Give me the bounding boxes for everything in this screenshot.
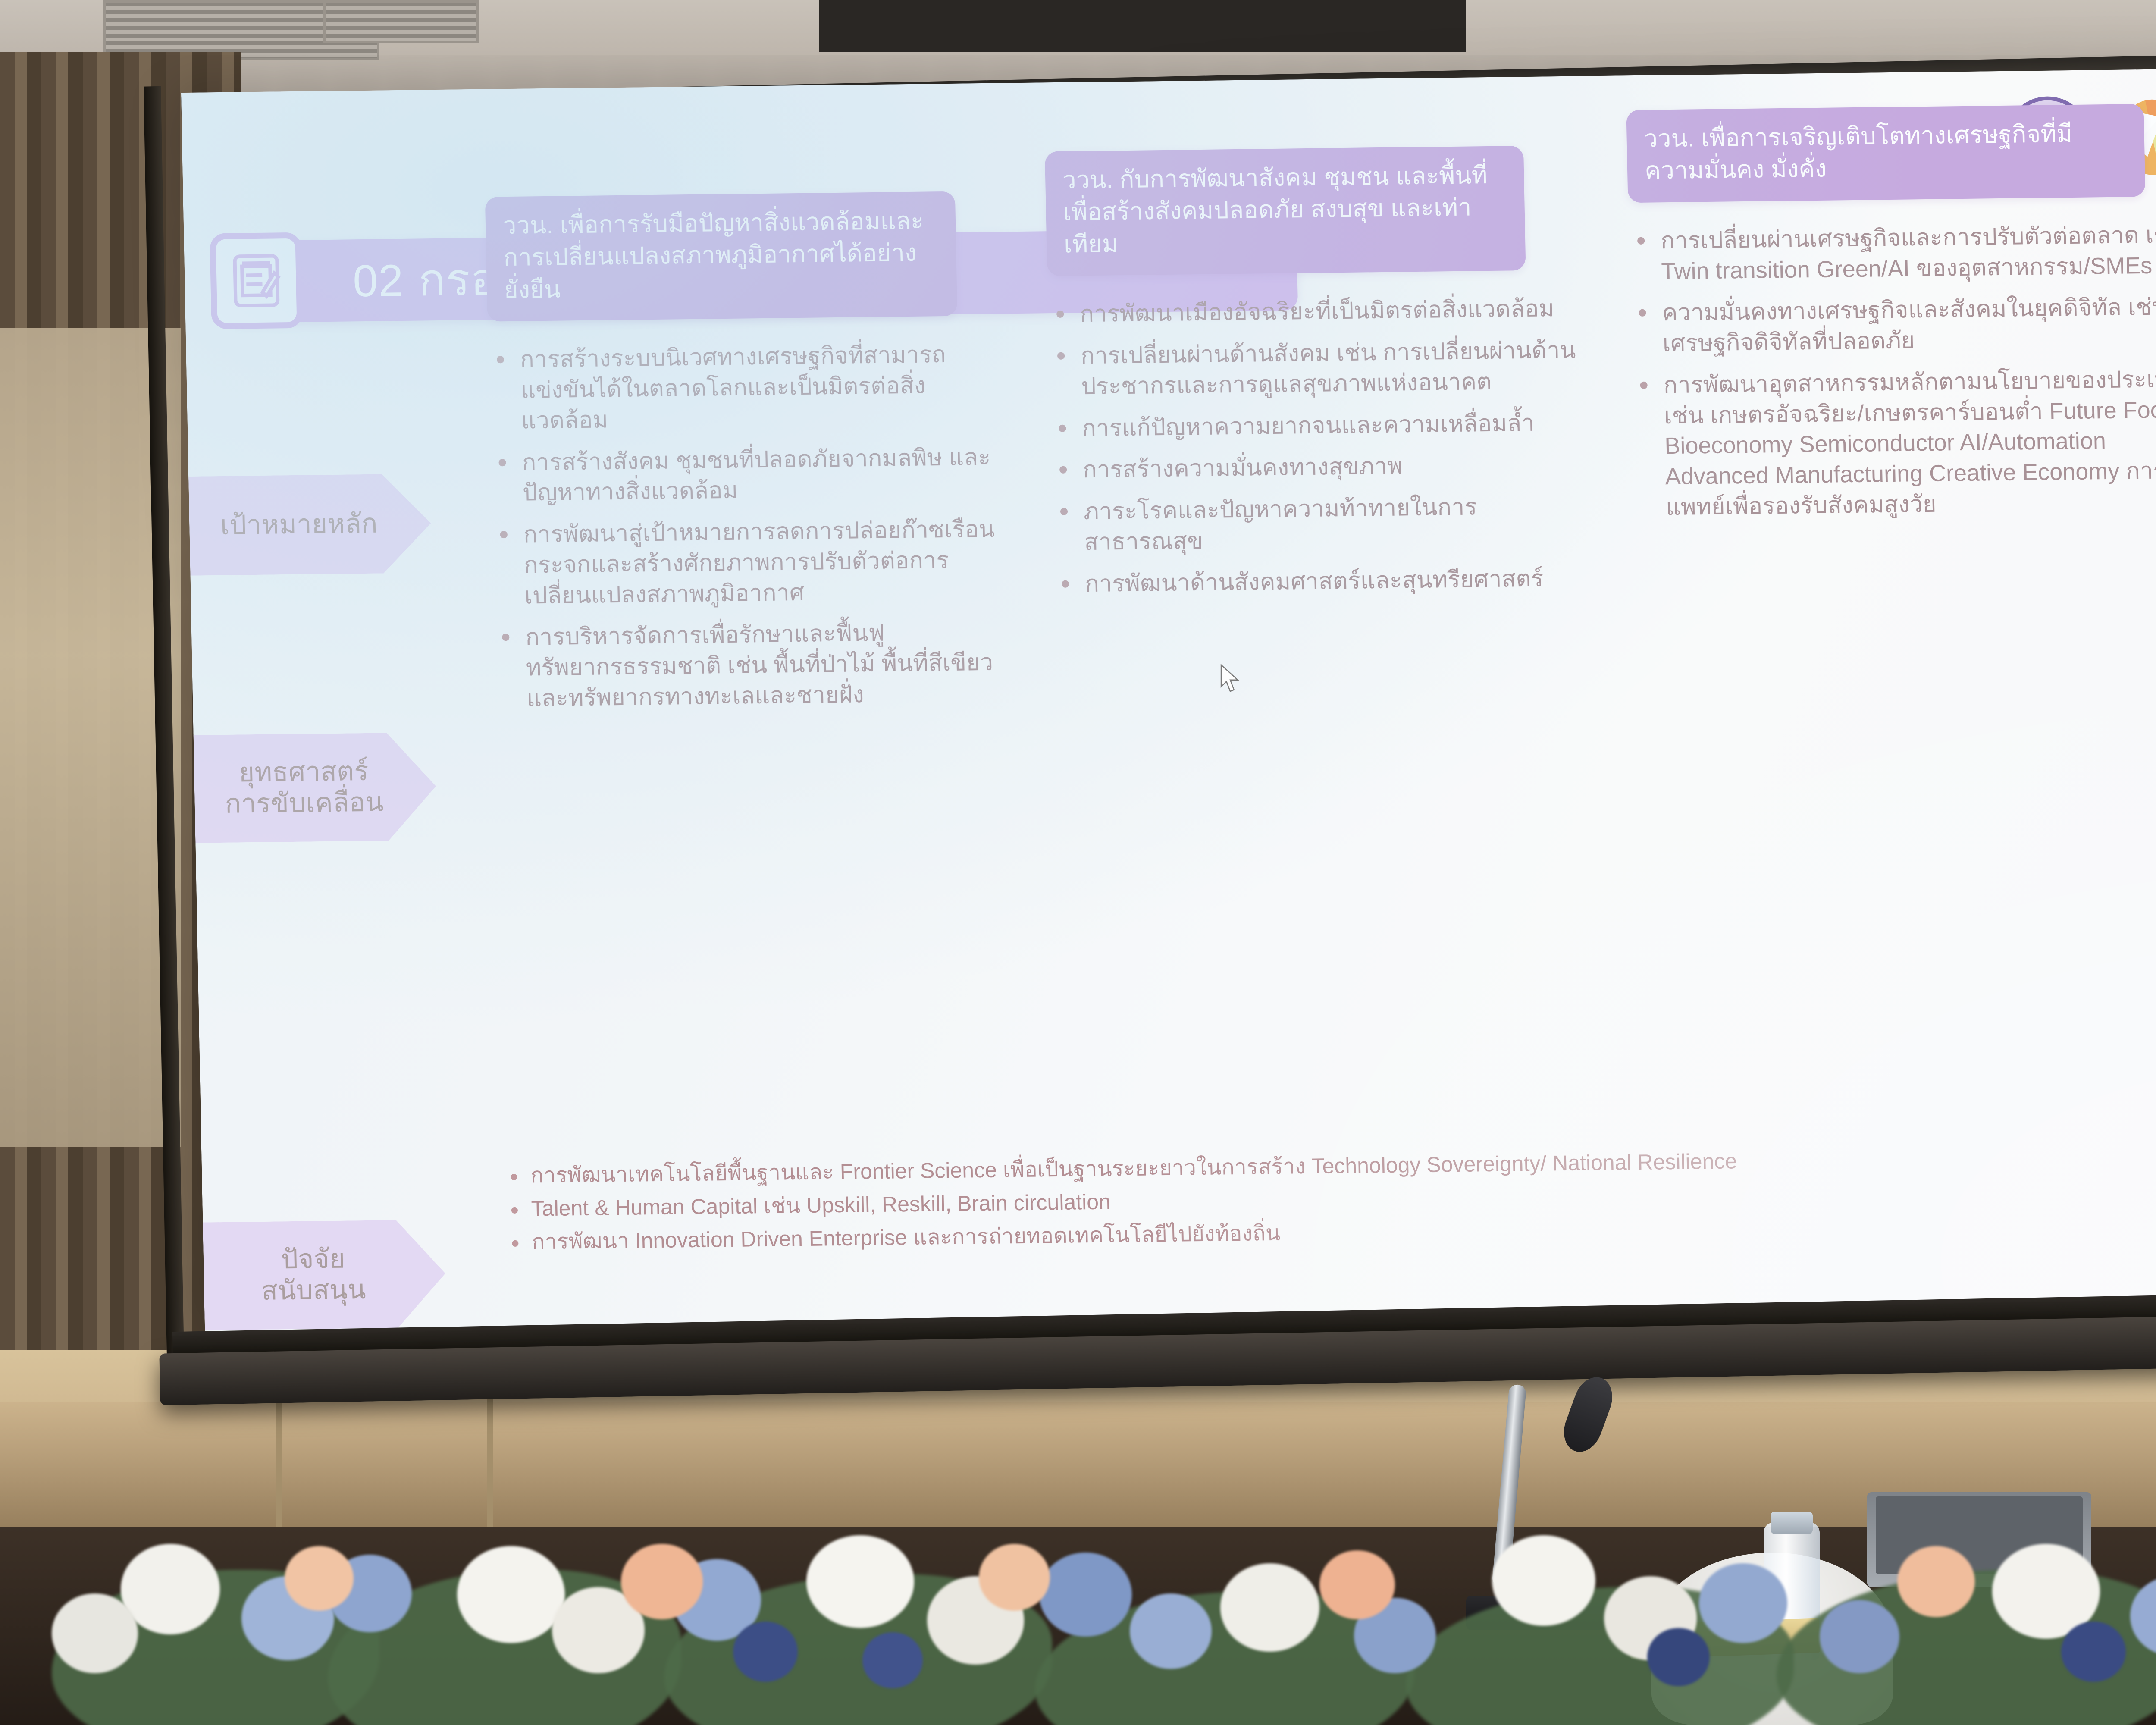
laptop-screen: [1876, 1496, 2083, 1574]
support-factor-list: การพัฒนาเทคโนโลยีพื้นฐานและ Frontier Sci…: [504, 1140, 2156, 1255]
ceiling-air-vent-secondary: [323, 0, 479, 43]
ceiling-dark-recess: [819, 0, 1466, 52]
row-label-support-factors: ปัจจัย สนับสนุน: [203, 1220, 446, 1330]
list-item: การแก้ปัญหาความยากจนและความเหลื่อมล้ำ: [1050, 407, 1589, 444]
row-label-text: ปัจจัย สนับสนุน: [260, 1243, 366, 1307]
list-item: การบริหารจัดการเพื่อรักษาและฟื้นฟูทรัพยา…: [493, 617, 1008, 714]
column-heading: ววน. เพื่อการเจริญเติบโตทางเศรษฐกิจที่มี…: [1626, 104, 2145, 203]
column-heading: ววน. เพื่อการรับมือปัญหาสิ่งแวดล้อมและกา…: [485, 191, 958, 322]
list-item: การพัฒนาสู่เป้าหมายการลดการปล่อยก๊าซเรือ…: [491, 514, 1006, 611]
row-label-main-goals: เป้าหมายหลัก: [188, 474, 432, 576]
column-bullet-list: การพัฒนาเมืองอัจฉริยะที่เป็นมิตรต่อสิ่งแ…: [1048, 293, 1592, 600]
row-label-text: เป้าหมายหลัก: [220, 508, 378, 541]
list-item: การเปลี่ยนผ่านด้านสังคม เช่น การเปลี่ยนผ…: [1048, 335, 1589, 402]
list-item: การสร้างสังคม ชุมชนที่ปลอดภัยจากมลพิษ แล…: [490, 442, 1004, 509]
column-economy: ววน. เพื่อการเจริญเติบโตทางเศรษฐกิจที่มี…: [1626, 103, 2156, 534]
support-factors-section: การพัฒนาเทคโนโลยีพื้นฐานและ Frontier Sci…: [504, 1140, 2156, 1262]
list-item: ความมั่นคงทางเศรษฐกิจและสังคมในยุคดิจิทั…: [1630, 292, 2156, 359]
list-item: การพัฒนาด้านสังคมศาสตร์และสุนทรียศาสตร์: [1053, 563, 1592, 600]
name-card: [1630, 1618, 1821, 1659]
slide-number: 02: [352, 255, 404, 306]
mouse-cursor-icon: [1219, 664, 1242, 694]
column-bullet-list: การสร้างระบบนิเวศทางเศรษฐกิจที่สามารถแข่…: [488, 339, 1008, 714]
clipboard-pencil-icon-frame: [210, 232, 303, 329]
column-bullet-list: การเปลี่ยนผ่านเศรษฐกิจและการปรับตัวต่อตล…: [1629, 219, 2156, 523]
water-bottle-cap: [1771, 1512, 1813, 1534]
list-item: การพัฒนาอุตสาหกรรมหลักตามนโยบายของประเทศ…: [1631, 364, 2156, 523]
column-environment: ววน. เพื่อการรับมือปัญหาสิ่งแวดล้อมและกา…: [485, 191, 1008, 725]
projection-screen: สอวช สำนักงานสภานโยบายการอุดมศึกษา วิทยา…: [181, 66, 2156, 1335]
clipboard-pencil-icon: [216, 238, 297, 323]
row-label-strategies: ยุทธศาสตร์ การขับเคลื่อน: [194, 732, 437, 843]
column-heading: ววน. กับการพัฒนาสังคม ชุมชน และพื้นที่ เ…: [1045, 146, 1526, 276]
list-item: การสร้างความมั่นคงทางสุขภาพ: [1051, 449, 1590, 486]
list-item: การสร้างระบบนิเวศทางเศรษฐกิจที่สามารถแข่…: [488, 339, 1003, 436]
presentation-slide: สอวช สำนักงานสภานโยบายการอุดมศึกษา วิทยา…: [181, 66, 2156, 1335]
list-item: การพัฒนาเมืองอัจฉริยะที่เป็นมิตรต่อสิ่งแ…: [1048, 293, 1587, 330]
column-society: ววน. กับการพัฒนาสังคม ชุมชน และพื้นที่ เ…: [1045, 145, 1592, 611]
row-label-text: ยุทธศาสตร์ การขับเคลื่อน: [224, 756, 384, 820]
list-item: ภาระโรคและปัญหาความท้าทายในการสาธารณสุข: [1051, 490, 1592, 558]
list-item: การเปลี่ยนผ่านเศรษฐกิจและการปรับตัวต่อตล…: [1629, 219, 2156, 287]
microphone-base: [1466, 1596, 1604, 1630]
